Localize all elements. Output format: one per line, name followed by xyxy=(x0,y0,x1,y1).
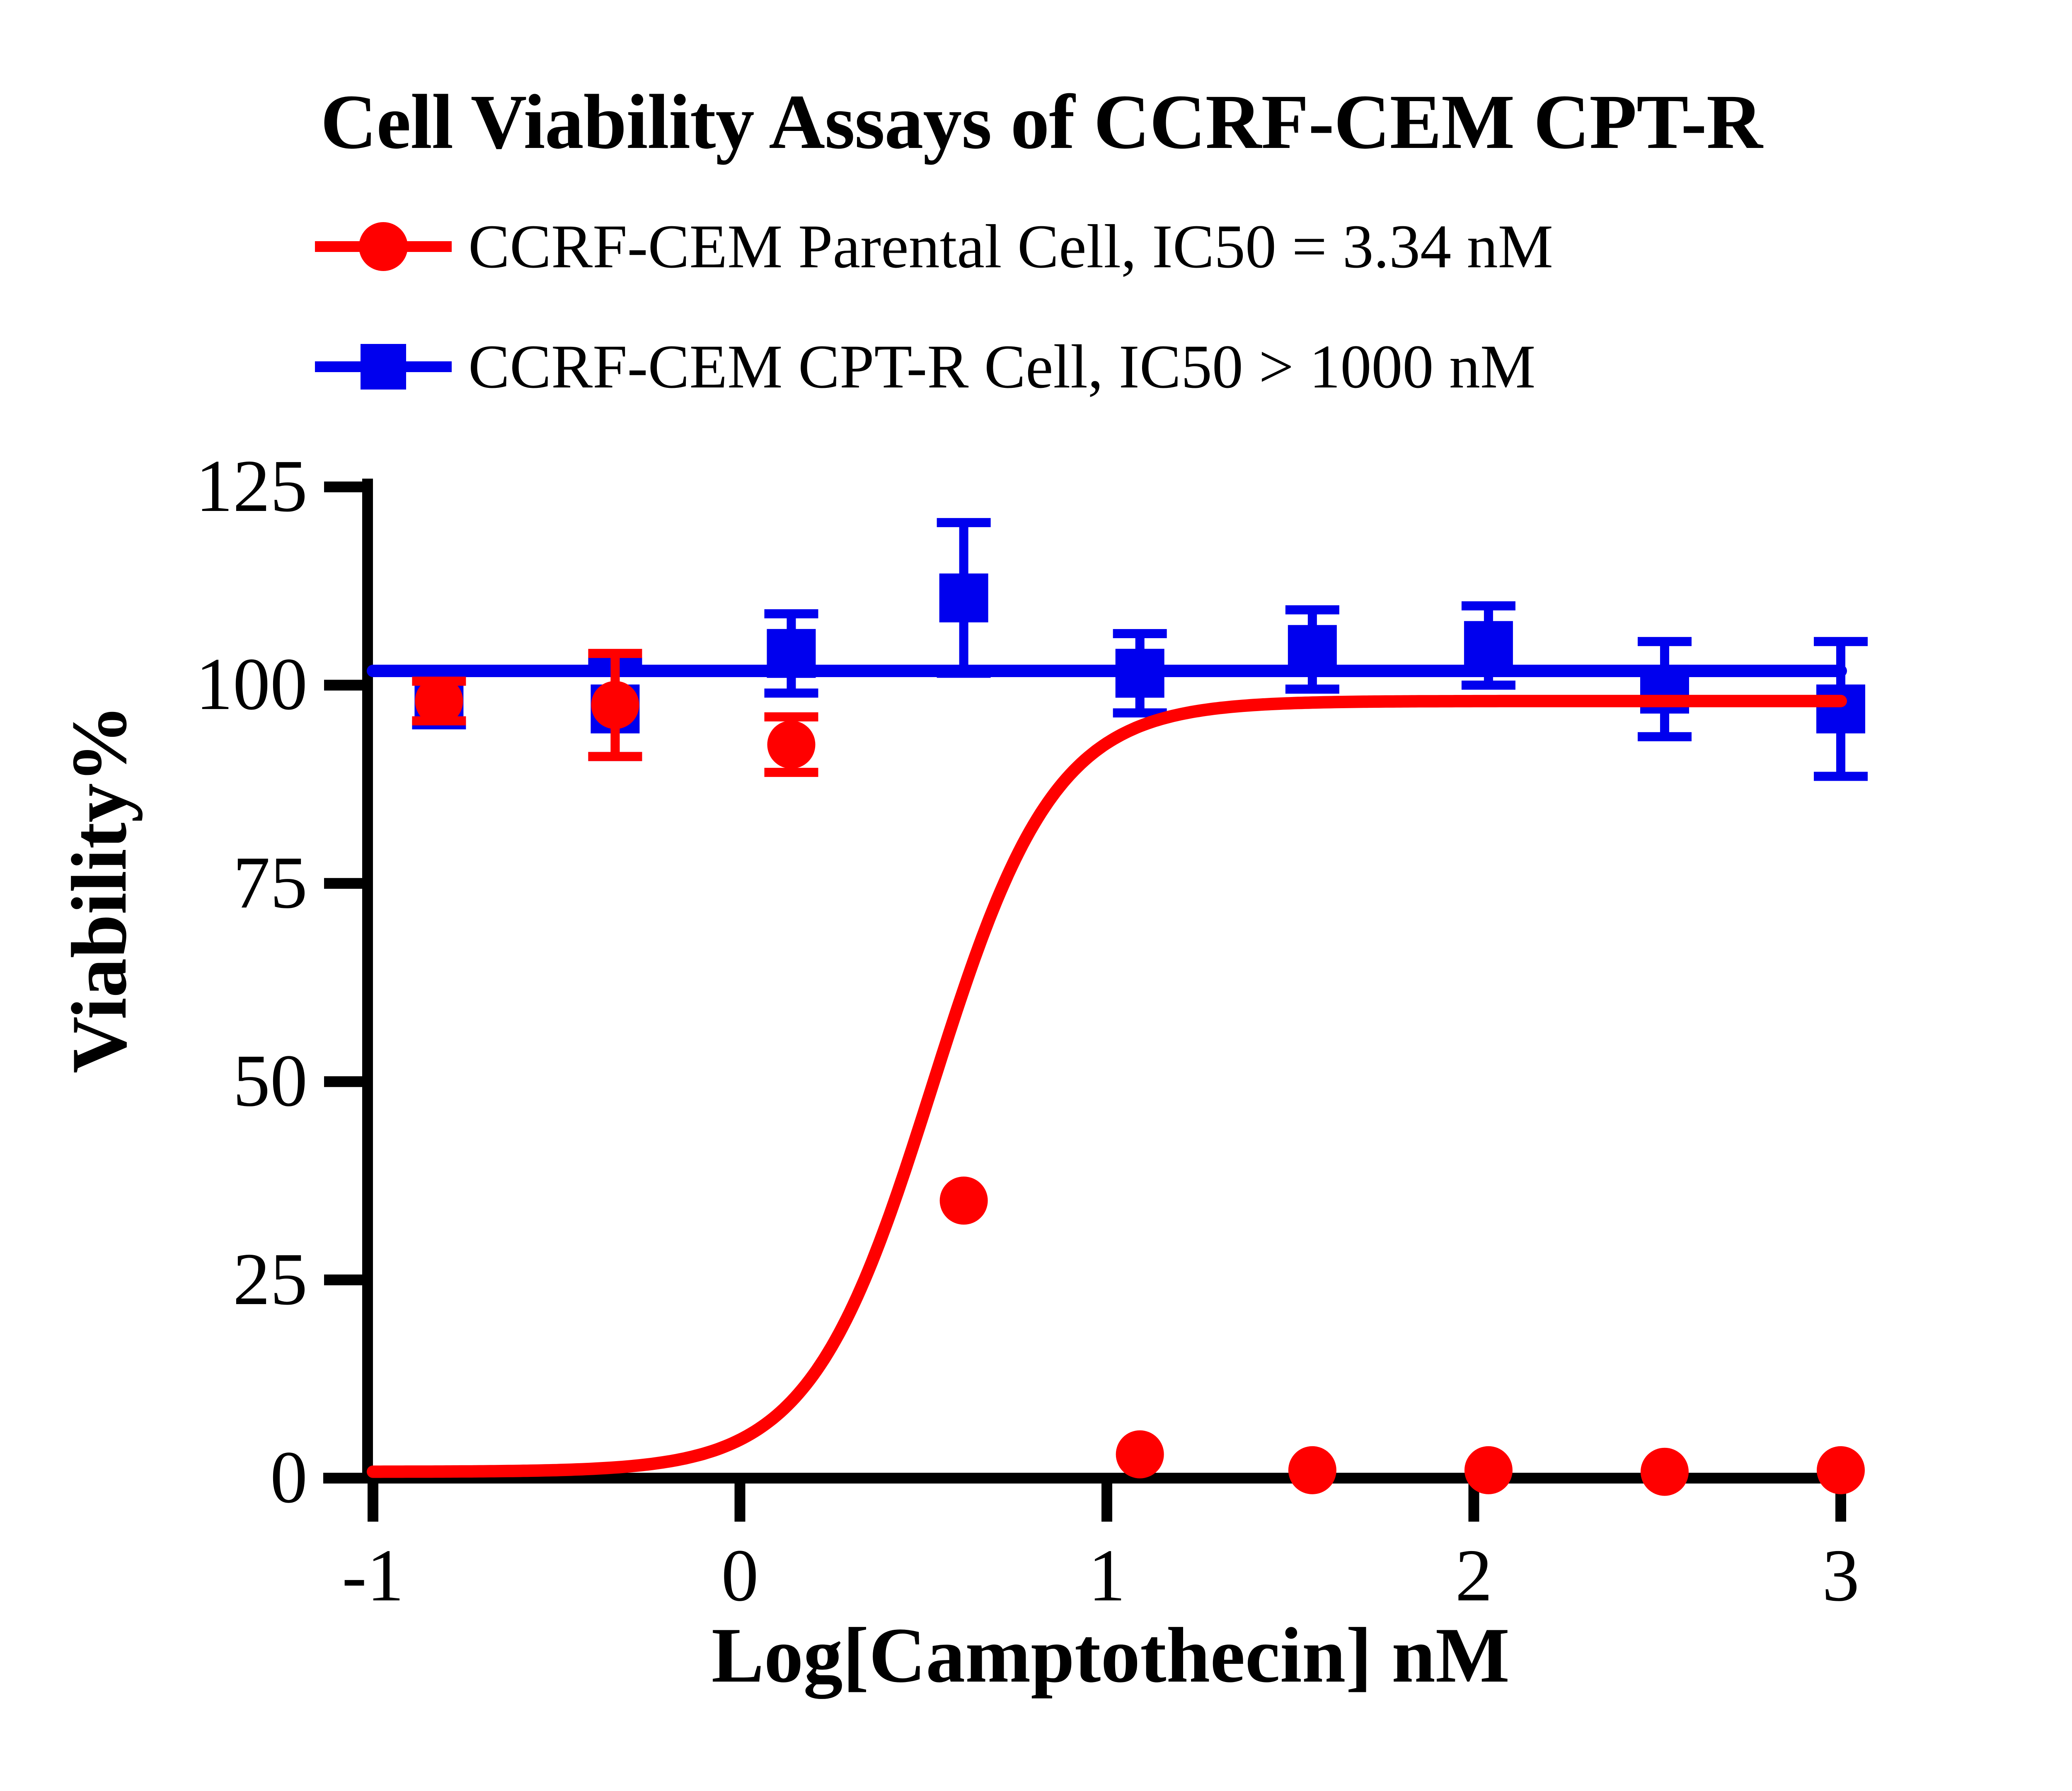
x-tick-label: 3 xyxy=(1779,1538,1903,1613)
y-tick-label: 50 xyxy=(142,1043,307,1118)
x-tick-label: 1 xyxy=(1045,1538,1169,1613)
y-tick-label: 25 xyxy=(142,1242,307,1317)
data-series-group xyxy=(373,518,1868,1496)
y-tick-label: 75 xyxy=(142,845,307,920)
y-tick-label: 125 xyxy=(142,449,307,523)
y-tick-label: 100 xyxy=(142,647,307,721)
chart-figure: Cell Viability Assays of CCRF-CEM CPT-R … xyxy=(0,0,2072,1791)
x-tick-label: 0 xyxy=(678,1538,802,1613)
x-tick-label: -1 xyxy=(311,1538,435,1613)
axis-lines xyxy=(323,479,1846,1522)
y-axis-title: Viability% xyxy=(60,557,139,1220)
y-tick-label: 0 xyxy=(142,1440,307,1515)
x-tick-label: 2 xyxy=(1412,1538,1536,1613)
x-axis-title: Log[Camptothecin] nM xyxy=(365,1616,1857,1695)
plot-area xyxy=(0,0,2072,1791)
